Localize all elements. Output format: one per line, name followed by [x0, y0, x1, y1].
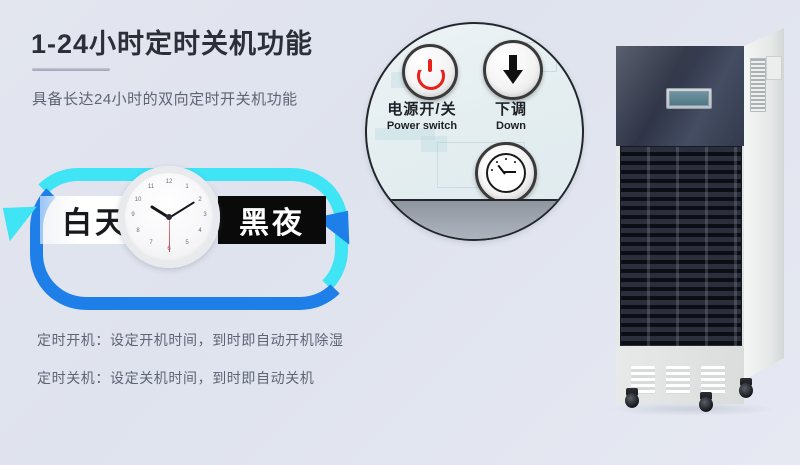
lcd-display	[666, 88, 712, 109]
base-vent	[701, 366, 725, 394]
clock-second-hand	[169, 216, 170, 252]
down-button[interactable]	[483, 40, 543, 100]
power-label-cn: 电源开/关	[365, 98, 481, 119]
control-panel-closeup: 电源开/关 Power switch 下调 Down 定时/功能 Timi	[365, 22, 584, 241]
clock-number: 10	[132, 197, 144, 203]
clock-number: 1	[181, 184, 193, 190]
power-icon	[417, 59, 443, 85]
panel-base-band	[367, 199, 582, 239]
title-divider	[32, 68, 110, 71]
down-label-cn: 下调	[473, 98, 549, 119]
air-intake-grille	[620, 146, 742, 348]
power-button-label: 电源开/关 Power switch	[365, 98, 481, 132]
clock-number: 4	[194, 228, 206, 234]
caster-wheel	[624, 388, 640, 408]
feature-list: 定时开机：设定开机时间，到时即自动开机除湿 定时关机：设定关机时间，到时即自动关…	[37, 330, 344, 406]
side-vent-grille	[750, 58, 766, 112]
down-label-en: Down	[473, 120, 549, 132]
clock-icon	[486, 153, 526, 193]
page-subtitle: 具备长达24小时的双向定时开关机功能	[32, 88, 298, 109]
clock-number: 11	[145, 184, 157, 190]
clock-number: 9	[127, 212, 139, 218]
base-vent	[666, 366, 690, 394]
caster-wheel	[738, 378, 754, 398]
promo-banner: 1-24小时定时关机功能 具备长达24小时的双向定时开关机功能 电源开/关 Po…	[0, 0, 800, 465]
clock-number: 8	[132, 228, 144, 234]
timer-button[interactable]	[475, 142, 537, 204]
down-button-label: 下调 Down	[473, 98, 549, 132]
feature-item: 定时关机：设定关机时间，到时即自动关机	[37, 368, 344, 388]
clock-number: 7	[145, 240, 157, 246]
lcd-screen	[669, 91, 709, 106]
power-button[interactable]	[402, 44, 458, 100]
grille-columns	[621, 147, 741, 347]
analog-clock: 12 1 2 3 4 5 6 7 8 9 10 11	[118, 166, 220, 268]
caster-wheel	[698, 392, 714, 412]
dehumidifier-product-image	[598, 28, 784, 420]
clock-number: 5	[181, 240, 193, 246]
power-label-en: Power switch	[365, 120, 481, 132]
night-tag: 黑夜	[218, 196, 326, 244]
clock-number: 3	[199, 212, 211, 218]
down-arrow-icon	[503, 55, 523, 85]
clock-number: 2	[194, 197, 206, 203]
feature-item: 定时开机：设定开机时间，到时即自动开机除湿	[37, 330, 344, 350]
clock-number: 12	[163, 179, 175, 185]
page-title: 1-24小时定时关机功能	[31, 22, 313, 61]
clock-center-pin	[166, 214, 172, 220]
side-label-plate	[766, 56, 782, 80]
